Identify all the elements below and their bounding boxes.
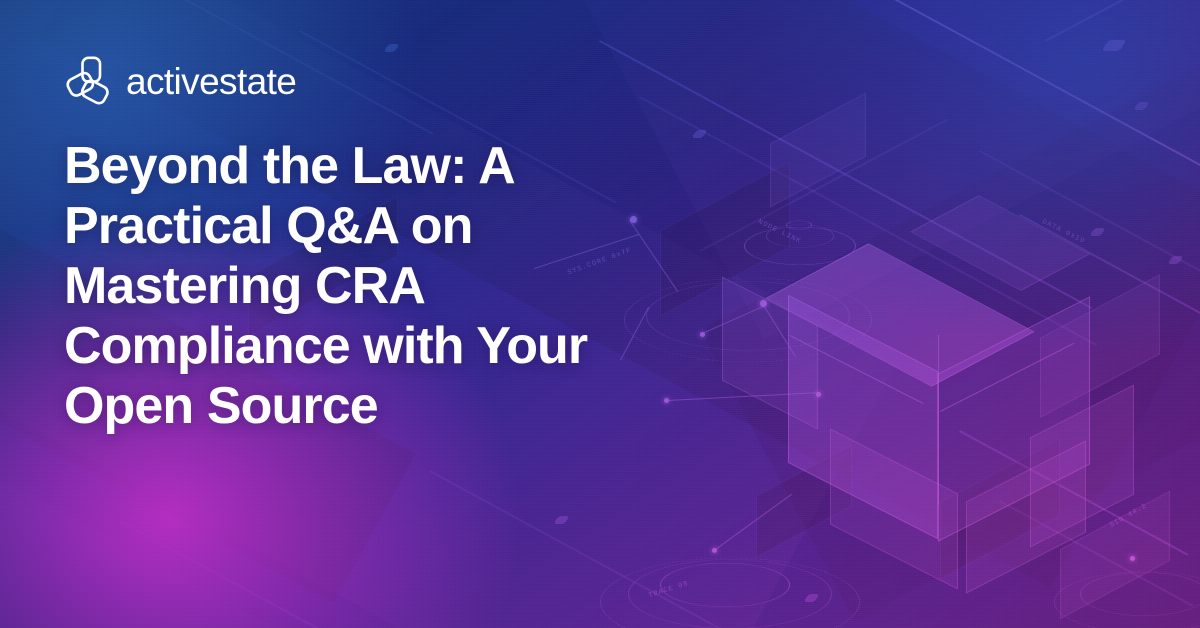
brand-lockup[interactable]: activestate [64, 56, 296, 106]
headline-line: Compliance with Your [64, 317, 587, 375]
headline-line: Open Source [64, 377, 378, 435]
brand-wordmark: activestate [126, 63, 296, 100]
headline-line: Practical Q&A on [64, 197, 472, 255]
headline-line: Mastering CRA [64, 257, 425, 315]
activestate-triskelion-logo-icon [64, 56, 112, 106]
headline-line: Beyond the Law: A [64, 137, 515, 195]
social-banner: SYS.CORE 0x7F NODE LINK DATA 0x19 SIG 44… [0, 0, 1200, 628]
banner-content: activestate Beyond the Law: A Practical … [0, 0, 1200, 628]
page-title: Beyond the Law: A Practical Q&A on Maste… [64, 136, 724, 436]
